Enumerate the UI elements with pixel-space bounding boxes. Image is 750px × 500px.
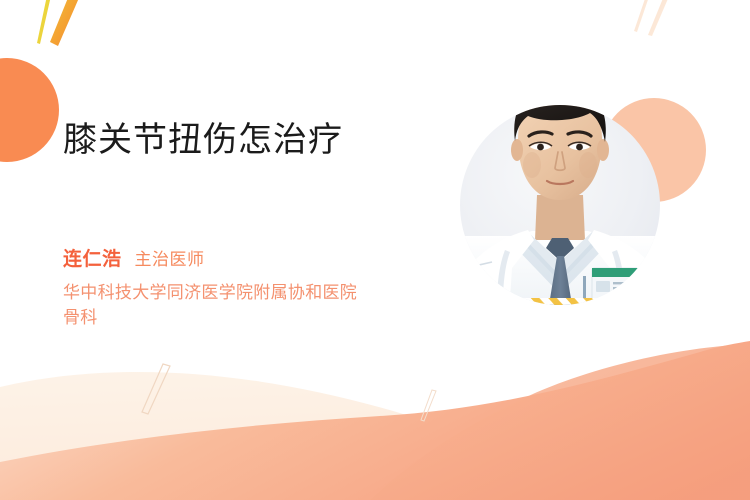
ribbon-decoration-top-left [37, 0, 82, 46]
wave-decoration-bottom [0, 341, 750, 500]
doctor-info-card: 膝关节扭伤怎治疗 连仁浩 主治医师 华中科技大学同济医学院附属协和医院 骨科 [0, 0, 750, 500]
doctor-department: 骨科 [63, 305, 463, 330]
doctor-name: 连仁浩 [63, 247, 122, 273]
doctor-rank: 主治医师 [135, 247, 205, 273]
doctor-info-block: 连仁浩 主治医师 华中科技大学同济医学院附属协和医院 骨科 [63, 247, 463, 330]
doctor-name-row: 连仁浩 主治医师 [63, 247, 463, 273]
stripe-decoration [460, 296, 660, 334]
doctor-hospital: 华中科技大学同济医学院附属协和医院 [63, 280, 463, 305]
page-title: 膝关节扭伤怎治疗 [63, 117, 343, 163]
ribbon-decoration-top-right [634, 0, 673, 36]
orange-circle-decoration [0, 58, 59, 162]
